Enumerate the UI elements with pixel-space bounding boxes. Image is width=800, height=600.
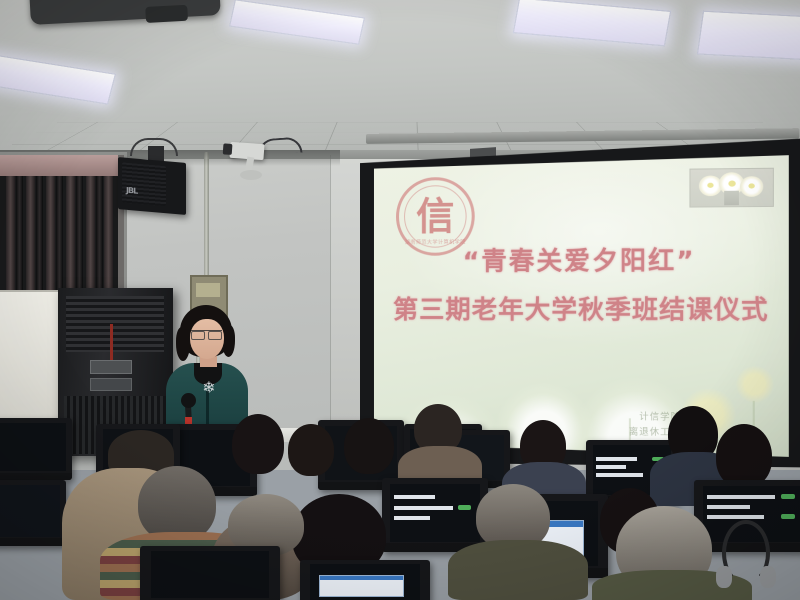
wall-seam — [330, 155, 331, 455]
audience-head — [288, 424, 334, 476]
monitor-window — [319, 575, 404, 596]
classroom-photo-scene: JBL 信 湖南师范大学计算机学院 — [0, 0, 800, 600]
ceiling-projector — [29, 0, 221, 25]
flower-photo-thumbnail — [689, 168, 773, 208]
audience-head-grey — [138, 466, 216, 542]
headphones-icon[interactable] — [722, 520, 770, 586]
whiteboard — [0, 290, 62, 434]
cabinet-control-panel — [90, 360, 132, 374]
wall-speaker: JBL — [118, 157, 186, 215]
monitor[interactable] — [382, 478, 488, 552]
cabinet-display-panel — [90, 378, 132, 391]
eyeglasses-icon — [191, 330, 222, 338]
camera-mount-base — [240, 170, 262, 180]
cabinet-cable — [110, 324, 113, 362]
monitor-bezel — [0, 473, 72, 480]
speaker-grille — [122, 162, 166, 206]
window-curtains — [0, 176, 118, 294]
ceiling-light-panel — [697, 11, 800, 62]
monitor-window-titlebar — [320, 576, 403, 580]
seal-character: 信 — [416, 197, 454, 235]
monitor[interactable] — [0, 418, 72, 480]
monitor-screen — [0, 423, 66, 471]
microphone-indicator — [185, 417, 192, 424]
monitor[interactable] — [300, 560, 430, 600]
monitor-bezel — [0, 538, 66, 546]
audience-coat — [448, 540, 588, 600]
ceiling-light-panel — [0, 51, 116, 104]
audience-head — [716, 424, 772, 488]
monitor[interactable] — [140, 546, 280, 600]
slide-title-line-2: 第三期老年大学秋季班结课仪式 — [374, 290, 789, 327]
speaker-brand-label: JBL — [126, 186, 137, 196]
ceiling-light-panel — [513, 0, 671, 46]
microphone-icon — [181, 393, 196, 408]
slide-title-line-1: “青春关爱夕阳红” — [374, 240, 789, 278]
monitor[interactable] — [0, 480, 66, 546]
monitor-screen — [310, 564, 419, 600]
ceiling-light-panel — [229, 0, 365, 45]
monitor-screen — [390, 484, 479, 542]
monitor-screen — [0, 485, 60, 536]
audience-head — [344, 418, 394, 474]
audience-head — [232, 414, 284, 474]
presenter-brooch: ❄ — [200, 379, 218, 397]
monitor-screen — [151, 551, 269, 598]
